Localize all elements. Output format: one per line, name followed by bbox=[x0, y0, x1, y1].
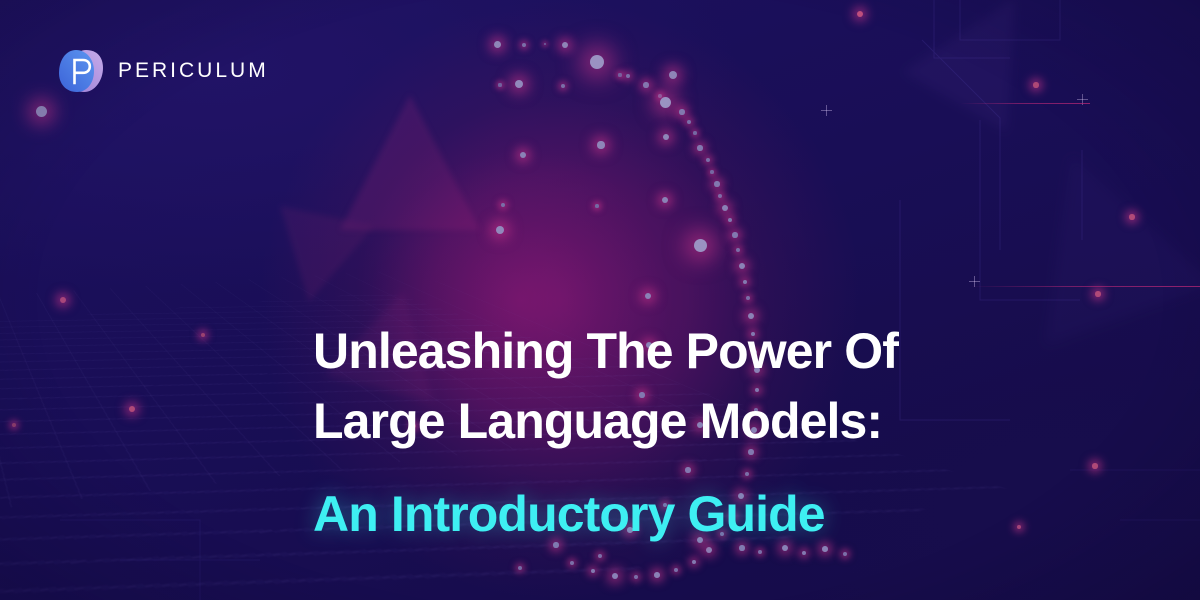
particle-dot bbox=[595, 204, 599, 208]
particle-dot bbox=[1095, 291, 1100, 296]
brand-logo[interactable]: PERICULUM bbox=[56, 46, 269, 96]
particle-dot bbox=[618, 73, 621, 76]
particle-dot bbox=[634, 575, 638, 579]
particle-dot bbox=[679, 109, 684, 114]
particle-dot bbox=[498, 83, 501, 86]
particle-dot bbox=[658, 94, 662, 98]
particle-dot bbox=[739, 263, 745, 269]
particle-dot bbox=[645, 293, 652, 300]
decorative-triangle bbox=[903, 0, 1067, 132]
particle-dot bbox=[522, 43, 526, 47]
particle-dot bbox=[544, 43, 547, 46]
particle-dot bbox=[743, 280, 748, 285]
headline-subtitle: An Introductory Guide bbox=[313, 479, 898, 549]
particle-dot bbox=[1033, 82, 1038, 87]
particle-dot bbox=[660, 97, 671, 108]
particle-dot bbox=[857, 11, 863, 17]
particle-dot bbox=[643, 82, 648, 87]
particle-dot bbox=[36, 106, 47, 117]
headline-block: Unleashing The Power Of Large Language M… bbox=[313, 316, 898, 549]
particle-dot bbox=[654, 572, 660, 578]
particle-dot bbox=[694, 239, 707, 252]
particle-dot bbox=[802, 551, 807, 556]
particle-dot bbox=[515, 80, 523, 88]
particle-dot bbox=[663, 134, 670, 141]
particle-dot bbox=[520, 152, 526, 158]
particle-dot bbox=[710, 170, 714, 174]
particle-dot bbox=[496, 226, 504, 234]
headline-line-2: Large Language Models: bbox=[313, 386, 898, 456]
particle-dot bbox=[697, 145, 702, 150]
particle-dot bbox=[706, 158, 710, 162]
particle-dot bbox=[758, 550, 762, 554]
headline-line-1: Unleashing The Power Of bbox=[313, 316, 898, 386]
particle-dot bbox=[561, 84, 565, 88]
particle-dot bbox=[1129, 214, 1134, 219]
brand-wordmark: PERICULUM bbox=[118, 59, 269, 83]
particle-dot bbox=[843, 552, 847, 556]
blog-header-banner: PERICULUM Unleashing The Power Of Large … bbox=[0, 0, 1200, 600]
particle-dot bbox=[736, 248, 740, 252]
particle-dot bbox=[626, 74, 631, 79]
particle-dot bbox=[597, 141, 604, 148]
periculum-logo-mark bbox=[56, 46, 106, 96]
particle-dot bbox=[1017, 525, 1022, 530]
particle-dot bbox=[562, 42, 568, 48]
particle-dot bbox=[590, 55, 604, 69]
accent-rule bbox=[960, 103, 1090, 104]
particle-dot bbox=[746, 296, 750, 300]
particle-dot bbox=[669, 71, 677, 79]
particle-dot bbox=[732, 232, 737, 237]
particle-dot bbox=[693, 131, 697, 135]
decorative-triangle bbox=[986, 124, 1200, 345]
decorative-triangle bbox=[340, 95, 480, 230]
particle-dot bbox=[674, 568, 678, 572]
particle-dot bbox=[718, 194, 722, 198]
particle-dot bbox=[687, 120, 691, 124]
particle-dot bbox=[728, 218, 733, 223]
particle-dot bbox=[692, 560, 697, 565]
particle-dot bbox=[662, 197, 668, 203]
particle-dot bbox=[1092, 463, 1097, 468]
particle-dot bbox=[722, 205, 728, 211]
particle-dot bbox=[714, 181, 719, 186]
particle-dot bbox=[501, 203, 505, 207]
particle-dot bbox=[494, 41, 501, 48]
accent-rule bbox=[968, 286, 1200, 287]
sparkle-icon bbox=[821, 105, 832, 116]
